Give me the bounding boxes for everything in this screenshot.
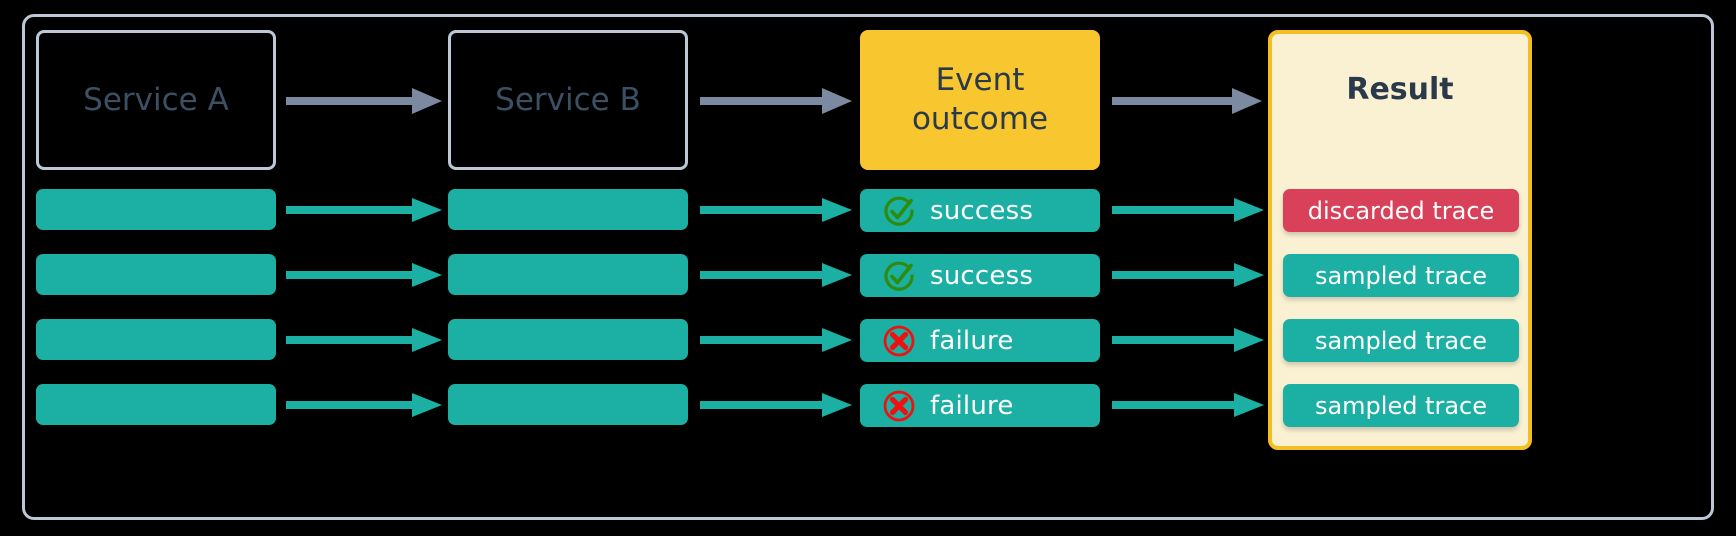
result-panel-title: Result bbox=[1272, 72, 1528, 107]
column-header-event-outcome-line1: Event bbox=[936, 61, 1025, 100]
column-header-event-outcome: Event outcome bbox=[860, 30, 1100, 170]
table-row-4-result-badge: sampled trace bbox=[1283, 384, 1519, 427]
diagram-canvas: Service A Service B Event outcome Result bbox=[0, 0, 1736, 536]
table-row-2-service-a-bar bbox=[36, 254, 276, 295]
table-row-1-outcome-label: success bbox=[930, 196, 1033, 226]
table-row-3-outcome-label: failure bbox=[930, 326, 1014, 356]
table-row-2-result-badge: sampled trace bbox=[1283, 254, 1519, 297]
table-row-1-outcome-chip: success bbox=[860, 189, 1100, 232]
table-row-4-result-label: sampled trace bbox=[1315, 392, 1487, 420]
table-row-4-service-b-bar bbox=[448, 384, 688, 425]
table-row-3-service-a-bar bbox=[36, 319, 276, 360]
row-1-arrow-b-to-outcome bbox=[700, 198, 852, 222]
row-1-arrow-outcome-to-result bbox=[1112, 198, 1264, 222]
column-header-service-a: Service A bbox=[36, 30, 276, 170]
column-header-service-b-label: Service B bbox=[495, 81, 641, 120]
table-row-2-result-label: sampled trace bbox=[1315, 262, 1487, 290]
row-4-arrow-outcome-to-result bbox=[1112, 393, 1264, 417]
column-header-event-outcome-line2: outcome bbox=[912, 100, 1048, 139]
table-row-3-service-b-bar bbox=[448, 319, 688, 360]
table-row-1-service-b-bar bbox=[448, 189, 688, 230]
table-row-3-result-label: sampled trace bbox=[1315, 327, 1487, 355]
table-row-2-service-b-bar bbox=[448, 254, 688, 295]
check-circle-icon bbox=[882, 194, 916, 228]
x-circle-icon bbox=[882, 324, 916, 358]
header-arrow-a-to-b bbox=[286, 88, 442, 114]
table-row-1-result-badge: discarded trace bbox=[1283, 189, 1519, 232]
row-3-arrow-a-to-b bbox=[286, 328, 442, 352]
table-row-4-outcome-label: failure bbox=[930, 391, 1014, 421]
row-4-arrow-b-to-outcome bbox=[700, 393, 852, 417]
row-2-arrow-a-to-b bbox=[286, 263, 442, 287]
row-3-arrow-outcome-to-result bbox=[1112, 328, 1264, 352]
column-header-service-a-label: Service A bbox=[83, 81, 229, 120]
header-arrow-outcome-to-result bbox=[1112, 88, 1262, 114]
check-circle-icon bbox=[882, 259, 916, 293]
row-2-arrow-b-to-outcome bbox=[700, 263, 852, 287]
table-row-1-service-a-bar bbox=[36, 189, 276, 230]
table-row-2-outcome-chip: success bbox=[860, 254, 1100, 297]
table-row-3-outcome-chip: failure bbox=[860, 319, 1100, 362]
column-header-service-b: Service B bbox=[448, 30, 688, 170]
row-1-arrow-a-to-b bbox=[286, 198, 442, 222]
row-4-arrow-a-to-b bbox=[286, 393, 442, 417]
table-row-2-outcome-label: success bbox=[930, 261, 1033, 291]
row-3-arrow-b-to-outcome bbox=[700, 328, 852, 352]
table-row-4-service-a-bar bbox=[36, 384, 276, 425]
table-row-4-outcome-chip: failure bbox=[860, 384, 1100, 427]
table-row-3-result-badge: sampled trace bbox=[1283, 319, 1519, 362]
row-2-arrow-outcome-to-result bbox=[1112, 263, 1264, 287]
header-arrow-b-to-outcome bbox=[700, 88, 852, 114]
table-row-1-result-label: discarded trace bbox=[1308, 197, 1495, 225]
x-circle-icon bbox=[882, 389, 916, 423]
